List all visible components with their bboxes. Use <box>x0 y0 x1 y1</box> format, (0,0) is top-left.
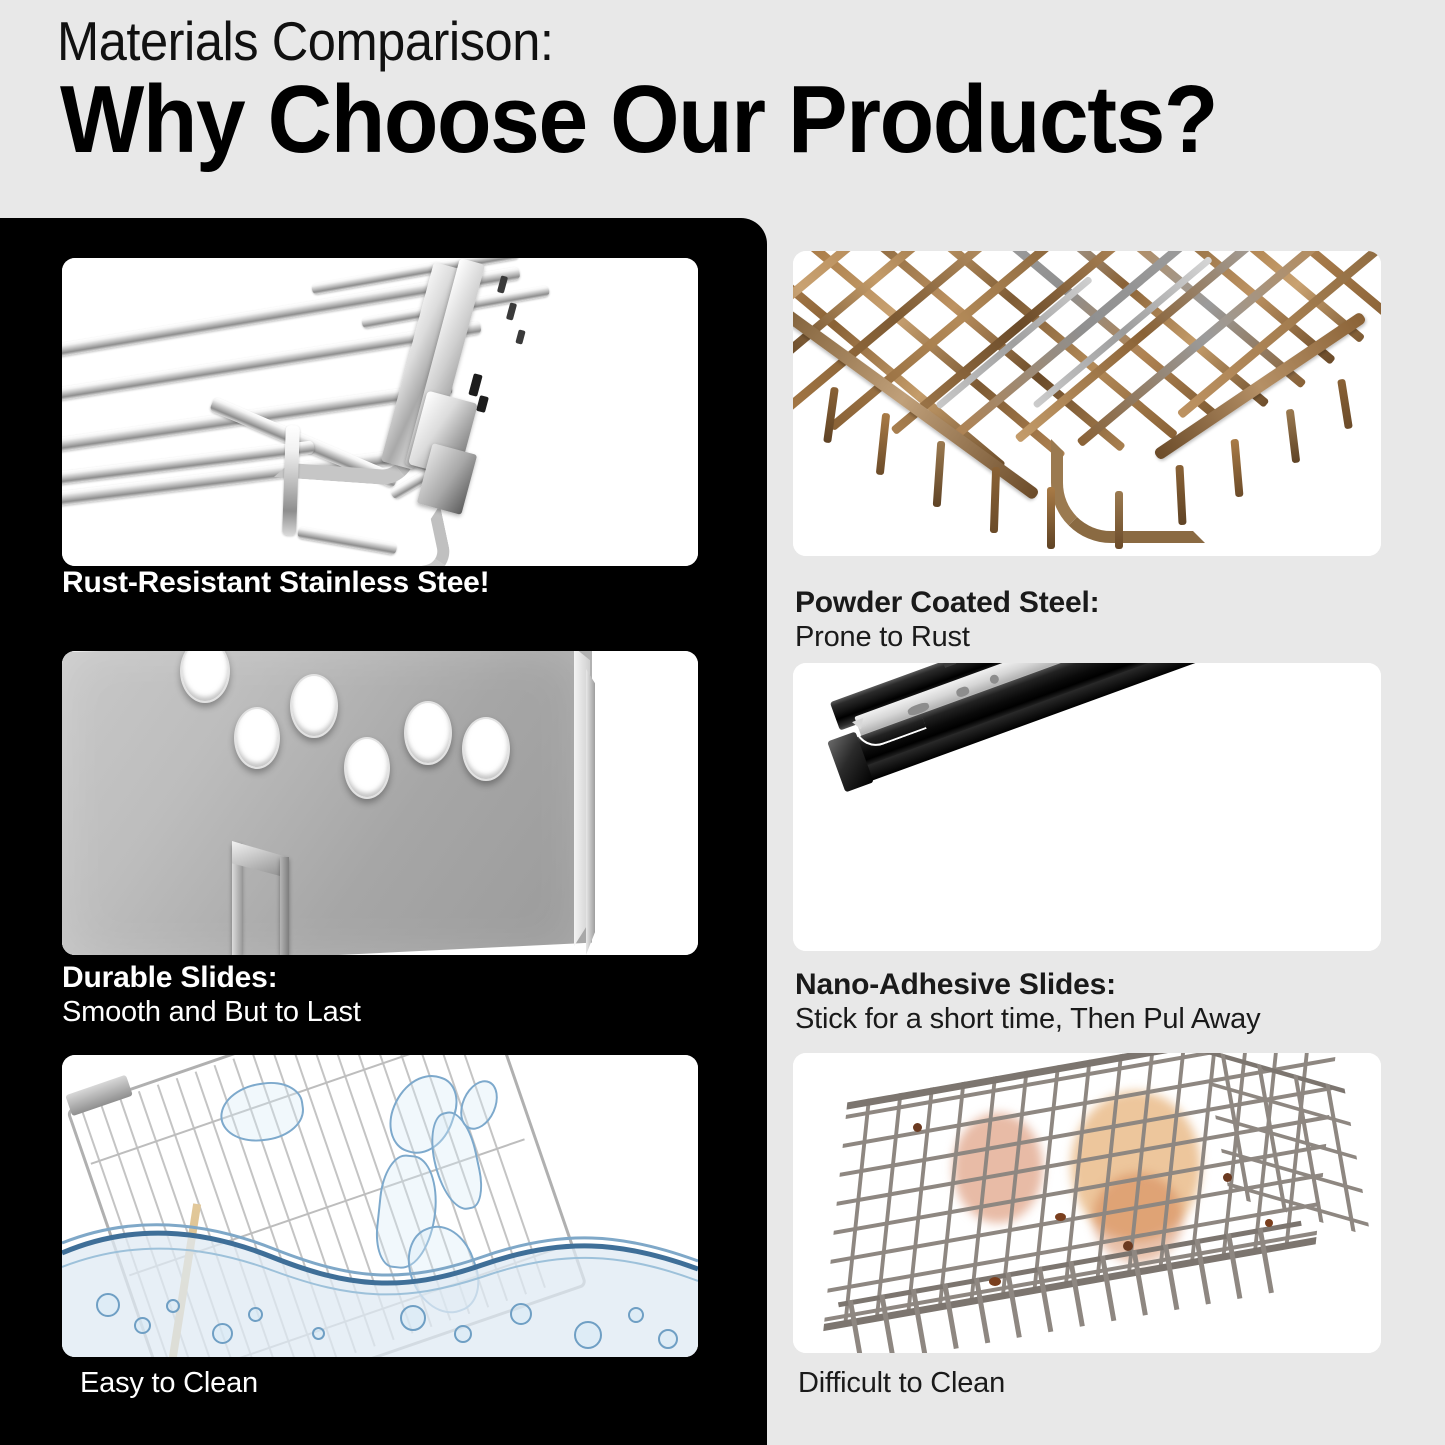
card-rust-resistant-image <box>62 258 698 566</box>
card-powder-coated-image <box>793 251 1381 556</box>
card-easy-to-clean-image <box>62 1055 698 1357</box>
caption-nano-adhesive: Nano-Adhesive Slides: Stick for a short … <box>795 968 1260 1036</box>
caption-rust-resistant-title: Rust-Resistant Stainless Stee! <box>62 566 489 601</box>
caption-nano-adhesive-subtitle: Stick for a short time, Then Pul Away <box>795 1003 1260 1037</box>
card-difficult-to-clean-image <box>793 1053 1381 1353</box>
caption-easy-to-clean: Easy to Clean <box>80 1367 258 1401</box>
caption-difficult-to-clean-text: Difficult to Clean <box>798 1367 1005 1401</box>
chrome-wire-shelf-illustration <box>62 258 698 566</box>
wire-rack-water-splash-illustration <box>62 1055 698 1357</box>
caption-difficult-to-clean: Difficult to Clean <box>798 1367 1005 1401</box>
caption-durable-slides-title: Durable Slides: <box>62 961 361 996</box>
header-subtitle: Materials Comparison: <box>57 14 554 69</box>
caption-easy-to-clean-text: Easy to Clean <box>80 1367 258 1401</box>
rusty-mesh-basket-illustration <box>793 251 1381 556</box>
black-drawer-slide-illustration <box>793 663 1381 951</box>
caption-nano-adhesive-title: Nano-Adhesive Slides: <box>795 968 1260 1003</box>
caption-powder-coated-subtitle: Prone to Rust <box>795 621 1099 655</box>
caption-powder-coated: Powder Coated Steel: Prone to Rust <box>795 586 1099 654</box>
water-wave-icon <box>62 1207 698 1357</box>
caption-durable-slides-subtitle: Smooth and But to Last <box>62 996 361 1030</box>
page-title: Why Choose Our Products? <box>60 72 1217 168</box>
header-banner: Materials Comparison: Why Choose Our Pro… <box>0 0 1445 218</box>
caption-durable-slides: Durable Slides: Smooth and But to Last <box>62 961 361 1029</box>
caption-rust-resistant: Rust-Resistant Stainless Stee! <box>62 566 489 601</box>
caption-powder-coated-title: Powder Coated Steel: <box>795 586 1099 621</box>
perforated-slide-plate-illustration <box>62 651 698 955</box>
card-durable-slides-image <box>62 651 698 955</box>
dirty-wire-basket-illustration <box>793 1053 1381 1353</box>
card-nano-adhesive-image <box>793 663 1381 951</box>
